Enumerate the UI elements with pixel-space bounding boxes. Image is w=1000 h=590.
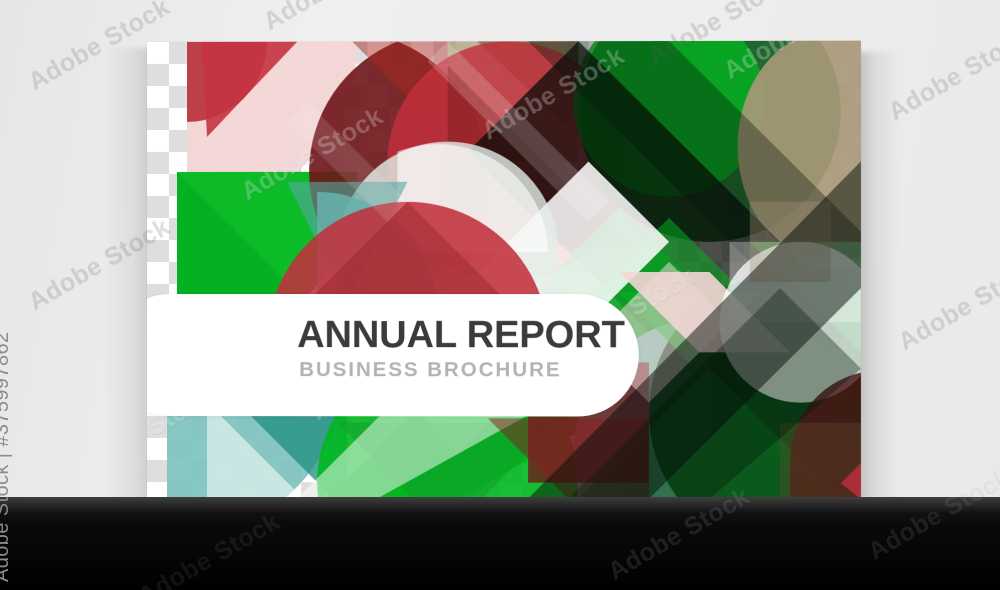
brochure-cover: Adobe Stock Adobe Stock Adobe Stock Adob… [147, 41, 861, 500]
page-subtitle: BUSINESS BROCHURE [299, 358, 629, 382]
title-block: ANNUAL REPORT BUSINESS BROCHURE [297, 314, 629, 382]
geometric-pattern-artwork [147, 41, 861, 500]
screenshot-canvas: Adobe Stock Adobe Stock Adobe Stock Adob… [0, 0, 1000, 590]
page-title: ANNUAL REPORT [297, 314, 629, 356]
floor-sheen [0, 497, 1000, 513]
stock-id-watermark: Adobe Stock | #375997862 [0, 331, 14, 582]
